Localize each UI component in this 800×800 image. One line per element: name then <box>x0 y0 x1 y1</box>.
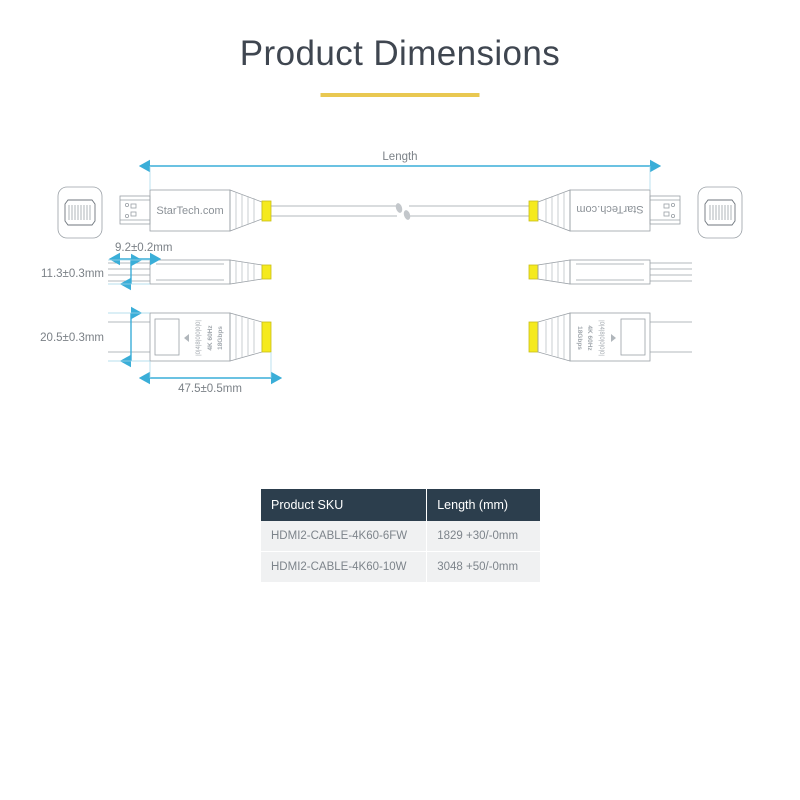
table-row: HDMI2-CABLE-4K60-6FW 1829 +30/-0mm <box>261 521 540 552</box>
cell-length: 1829 +30/-0mm <box>427 521 540 552</box>
hdmi-port-face-left <box>58 187 102 238</box>
table-header-row: Product SKU Length (mm) <box>261 489 540 521</box>
column-header-length: Length (mm) <box>427 489 540 521</box>
connector-spec-markings-left: |0|4|8|0|0|0|0| 4K 60Hz 18Gbps <box>196 320 224 356</box>
cell-length: 3048 +50/-0mm <box>427 552 540 583</box>
hdmi-port-face-right <box>698 187 742 238</box>
cable-break-symbol <box>395 202 412 220</box>
connector-side-left <box>108 260 271 284</box>
column-header-sku: Product SKU <box>261 489 427 521</box>
dimension-label-width: 9.2±0.2mm <box>115 242 172 254</box>
cell-sku: HDMI2-CABLE-4K60-6FW <box>261 521 427 552</box>
brand-text-right: StarTech.com <box>576 203 643 215</box>
dimension-label-connector-length: 47.5±0.5mm <box>178 383 242 395</box>
dimension-label-length: Length <box>382 151 417 163</box>
brand-text-left: StarTech.com <box>156 205 223 217</box>
connector-top-right <box>529 313 692 361</box>
product-sku-table: Product SKU Length (mm) HDMI2-CABLE-4K60… <box>261 489 540 582</box>
svg-text:|0|4|8|0|0|0|0|: |0|4|8|0|0|0|0| <box>598 320 604 356</box>
dimension-label-side-height: 11.3±0.3mm <box>41 268 104 280</box>
svg-text:18Gbps: 18Gbps <box>576 326 583 350</box>
cell-sku: HDMI2-CABLE-4K60-10W <box>261 552 427 583</box>
table-body: HDMI2-CABLE-4K60-6FW 1829 +30/-0mm HDMI2… <box>261 521 540 582</box>
svg-text:|0|4|8|0|0|0|0|: |0|4|8|0|0|0|0| <box>196 320 202 356</box>
connector-spec-markings-right: |0|4|8|0|0|0|0| 4K 60Hz 18Gbps <box>576 320 604 356</box>
dimension-label-top-height: 20.5±0.3mm <box>40 332 104 344</box>
table-row: HDMI2-CABLE-4K60-10W 3048 +50/-0mm <box>261 552 540 583</box>
connector-side-right <box>529 260 692 284</box>
svg-text:4K 60Hz: 4K 60Hz <box>207 325 214 351</box>
dimension-drawing: StarTech.com StarTech.com |0|4|8|0|0|0|0… <box>0 0 800 800</box>
svg-text:4K 60Hz: 4K 60Hz <box>586 325 593 351</box>
svg-text:18Gbps: 18Gbps <box>217 326 224 350</box>
connector-top-left <box>108 313 271 361</box>
product-dimensions-page: Product Dimensions <box>0 0 800 800</box>
